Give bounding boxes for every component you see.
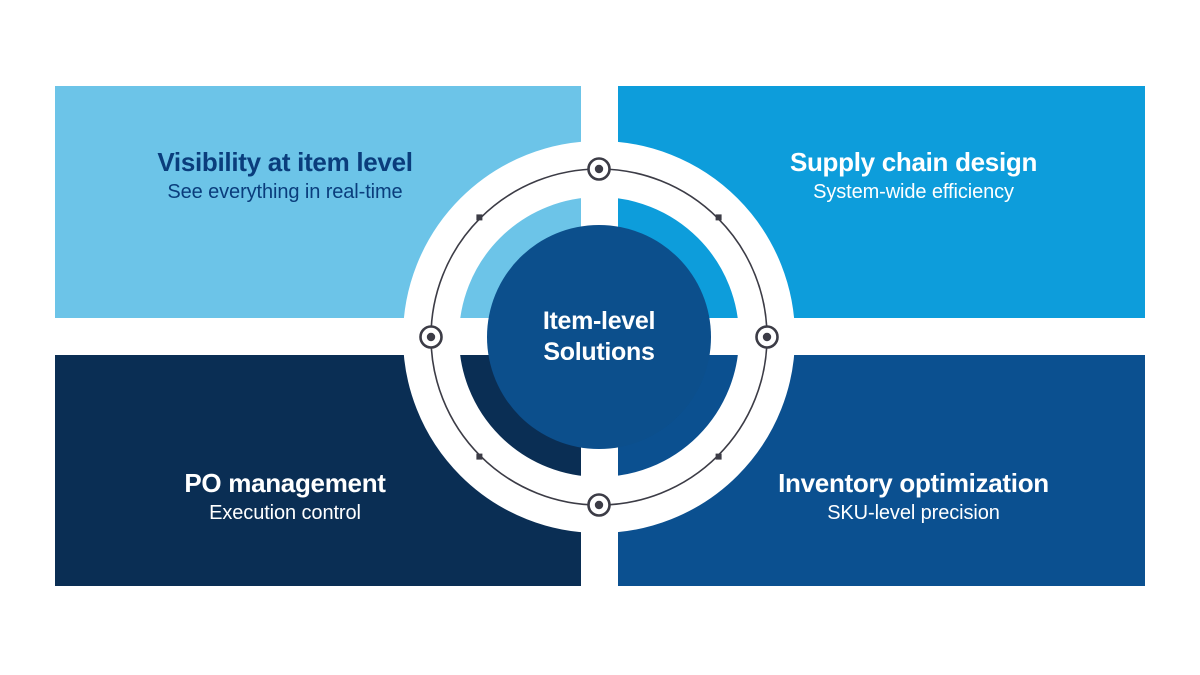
quadrant-text-block: Supply chain design System-wide efficien…	[772, 147, 1055, 204]
quadrant-title: Visibility at item level	[157, 147, 412, 178]
tick-lower-left-icon	[476, 454, 482, 460]
diagram-canvas: Visibility at item level See everything …	[0, 0, 1200, 675]
node-left-icon[interactable]	[421, 327, 442, 348]
node-right-icon[interactable]	[757, 327, 778, 348]
hub-label-line-2: Solutions	[489, 337, 709, 368]
node-top-icon[interactable]	[589, 159, 610, 180]
quadrant-subtitle: See everything in real-time	[157, 181, 412, 205]
hub-label-line-1: Item-level	[489, 306, 709, 337]
quadrant-subtitle: Execution control	[184, 502, 385, 526]
quadrant-text-block: Visibility at item level See everything …	[139, 147, 430, 204]
tick-upper-right-icon	[716, 214, 722, 220]
tick-lower-right-icon	[716, 454, 722, 460]
quadrant-title: Supply chain design	[790, 147, 1037, 178]
node-bottom-icon[interactable]	[589, 495, 610, 516]
quadrant-title: Inventory optimization	[778, 468, 1049, 499]
quadrant-title: PO management	[184, 468, 385, 499]
hub-label: Item-level Solutions	[489, 306, 709, 368]
tick-upper-left-icon	[476, 214, 482, 220]
quadrant-text-block: PO management Execution control	[166, 468, 403, 525]
quadrant-subtitle: SKU-level precision	[778, 502, 1049, 526]
quadrant-subtitle: System-wide efficiency	[790, 181, 1037, 205]
quadrant-text-block: Inventory optimization SKU-level precisi…	[760, 468, 1067, 525]
